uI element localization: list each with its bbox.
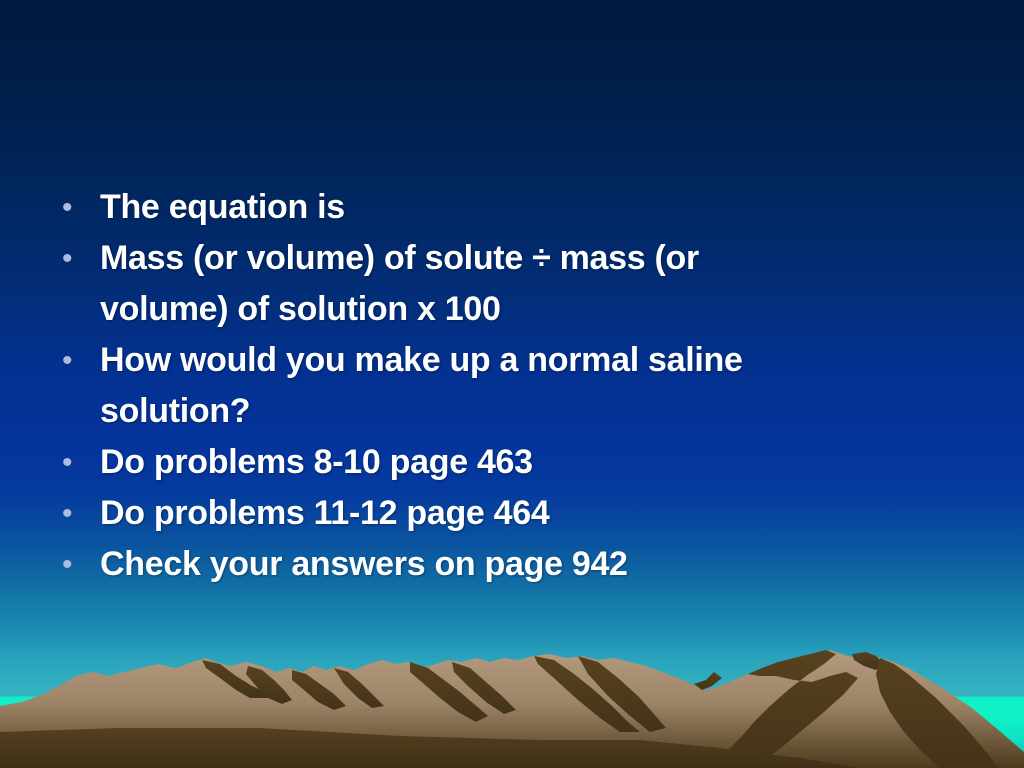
bullet-dot-icon: • <box>56 335 100 386</box>
list-item[interactable]: • Check your answers on page 942 <box>56 539 916 590</box>
bullet-text: Mass (or volume) of solute ÷ mass (or vo… <box>100 233 916 335</box>
presentation-slide: • The equation is • Mass (or volume) of … <box>0 0 1024 768</box>
bullet-dot-icon: • <box>56 437 100 488</box>
slide-body-bullet-list: • The equation is • Mass (or volume) of … <box>56 182 916 590</box>
bullet-dot-icon: • <box>56 182 100 233</box>
bullet-text: The equation is <box>100 182 916 233</box>
list-item[interactable]: • The equation is <box>56 182 916 233</box>
bullet-text: Do problems 8-10 page 463 <box>100 437 916 488</box>
list-item[interactable]: • Do problems 8-10 page 463 <box>56 437 916 488</box>
list-item[interactable]: • Mass (or volume) of solute ÷ mass (or … <box>56 233 916 335</box>
mountain-range-graphic <box>0 628 1024 768</box>
bullet-dot-icon: • <box>56 488 100 539</box>
list-item[interactable]: • Do problems 11-12 page 464 <box>56 488 916 539</box>
bullet-text: Check your answers on page 942 <box>100 539 916 590</box>
bullet-text: Do problems 11-12 page 464 <box>100 488 916 539</box>
list-item[interactable]: • How would you make up a normal saline … <box>56 335 916 437</box>
bullet-dot-icon: • <box>56 233 100 284</box>
bullet-text: How would you make up a normal saline so… <box>100 335 916 437</box>
bullet-dot-icon: • <box>56 539 100 590</box>
